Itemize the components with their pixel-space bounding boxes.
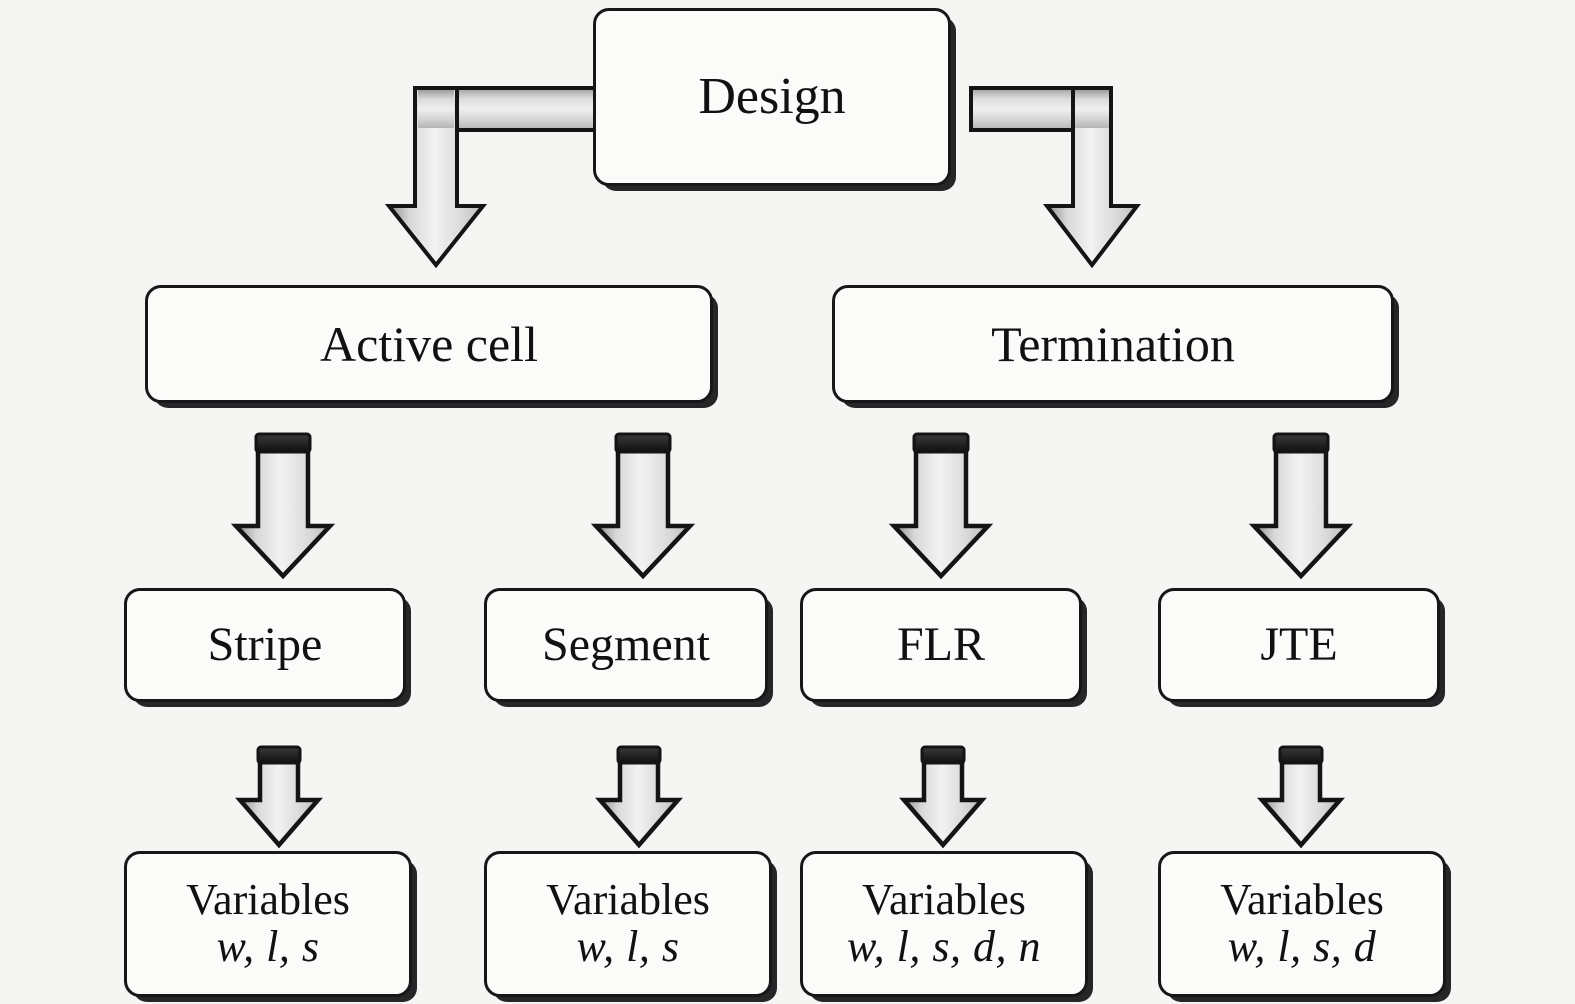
node-variables-segment-list: w, l, s <box>577 924 680 971</box>
node-variables-stripe[interactable]: Variables w, l, s <box>124 851 412 997</box>
connector-flr-to-variables <box>895 742 991 848</box>
node-jte[interactable]: JTE <box>1158 588 1440 702</box>
node-design-label: Design <box>698 69 845 124</box>
node-jte-label: JTE <box>1260 620 1337 671</box>
connector-stripe-to-variables <box>231 742 327 848</box>
connector-jte-to-variables <box>1253 742 1349 848</box>
connector-segment-to-variables <box>591 742 687 848</box>
node-variables-flr-list: w, l, s, d, n <box>847 924 1041 971</box>
node-stripe-label: Stripe <box>208 620 323 671</box>
node-segment[interactable]: Segment <box>484 588 768 702</box>
node-segment-label: Segment <box>542 620 710 671</box>
node-active-cell-label: Active cell <box>320 318 538 371</box>
node-variables-segment[interactable]: Variables w, l, s <box>484 851 772 997</box>
node-variables-flr[interactable]: Variables w, l, s, d, n <box>800 851 1088 997</box>
node-termination-label: Termination <box>991 318 1235 371</box>
connector-termination-to-flr <box>886 428 996 578</box>
node-variables-stripe-label: Variables <box>186 877 350 924</box>
connector-design-to-termination <box>963 83 1163 280</box>
connector-active-cell-to-segment <box>588 428 698 578</box>
node-flr-label: FLR <box>897 620 985 671</box>
node-design[interactable]: Design <box>593 8 951 186</box>
node-termination[interactable]: Termination <box>832 285 1394 403</box>
node-active-cell[interactable]: Active cell <box>145 285 713 403</box>
connector-design-to-active-cell <box>405 83 605 280</box>
node-variables-jte[interactable]: Variables w, l, s, d <box>1158 851 1446 997</box>
node-variables-flr-label: Variables <box>862 877 1026 924</box>
connector-termination-to-jte <box>1246 428 1356 578</box>
node-flr[interactable]: FLR <box>800 588 1082 702</box>
node-variables-stripe-list: w, l, s <box>217 924 320 971</box>
node-variables-jte-list: w, l, s, d <box>1228 924 1376 971</box>
node-stripe[interactable]: Stripe <box>124 588 406 702</box>
node-variables-segment-label: Variables <box>546 877 710 924</box>
connector-active-cell-to-stripe <box>228 428 338 578</box>
flowchart-canvas: Design Active cell Termination <box>0 0 1575 1004</box>
node-variables-jte-label: Variables <box>1220 877 1384 924</box>
